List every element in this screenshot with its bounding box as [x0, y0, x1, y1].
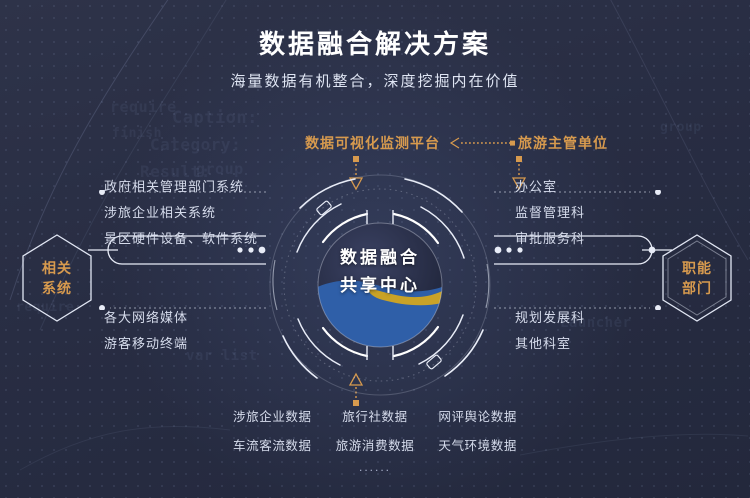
list-item[interactable]: 涉旅企业相关系统 — [104, 200, 258, 226]
list-item[interactable]: 监督管理科 — [515, 200, 585, 226]
list-item[interactable]: 各大网络媒体 — [104, 305, 188, 331]
list-item[interactable]: 游客移动终端 — [104, 331, 188, 357]
hexagon-right-line1: 职能 — [682, 258, 712, 278]
ghost-text: var list — [186, 348, 257, 364]
bottom-ellipsis: ...... — [0, 460, 750, 474]
list-item[interactable]: 旅行社数据 — [328, 405, 423, 429]
hexagon-right-line2: 部门 — [682, 278, 712, 298]
ghost-text: finish — [112, 126, 162, 141]
data-fusion-hub[interactable]: 数据融合 共享中心 — [255, 160, 505, 410]
dotted-left-arrow-icon — [448, 136, 518, 150]
hexagon-left-line1: 相关 — [42, 258, 72, 278]
list-item[interactable]: 办公室 — [515, 174, 585, 200]
label-visualization-platform[interactable]: 数据可视化监测平台 — [305, 133, 440, 153]
list-item[interactable]: 政府相关管理部门系统 — [104, 174, 258, 200]
ghost-text: group — [660, 120, 702, 135]
hexagon-related-systems[interactable]: 相关 系统 — [18, 232, 96, 324]
right-top-list: 办公室 监督管理科 审批服务科 — [515, 174, 585, 252]
left-bottom-list: 各大网络媒体 游客移动终端 — [104, 305, 188, 357]
left-top-list: 政府相关管理部门系统 涉旅企业相关系统 景区硬件设备、软件系统 — [104, 174, 258, 252]
hub-line2: 共享中心 — [255, 272, 505, 300]
list-item[interactable]: 其他科室 — [515, 331, 585, 357]
list-item[interactable]: 网评舆论数据 — [430, 405, 525, 429]
ghost-text: Category: — [150, 135, 241, 154]
hub-line1: 数据融合 — [255, 244, 505, 272]
infographic-canvas: require Caption: Category: Result: finis… — [0, 0, 750, 498]
list-item[interactable]: 规划发展科 — [515, 305, 585, 331]
hexagon-left-line2: 系统 — [42, 278, 72, 298]
list-item[interactable]: 车流客流数据 — [225, 434, 320, 458]
right-bottom-list: 规划发展科 其他科室 — [515, 305, 585, 357]
page-title: 数据融合解决方案 — [0, 24, 750, 61]
ghost-text: Caption: — [172, 108, 258, 128]
hexagon-left-label: 相关 系统 — [18, 232, 96, 324]
ghost-text: require — [110, 98, 177, 116]
page-subtitle: 海量数据有机整合，深度挖掘内在价值 — [0, 70, 750, 91]
list-item[interactable]: 审批服务科 — [515, 226, 585, 252]
list-item[interactable]: 涉旅企业数据 — [225, 405, 320, 429]
hub-label: 数据融合 共享中心 — [255, 244, 505, 300]
list-item[interactable]: 景区硬件设备、软件系统 — [104, 226, 258, 252]
list-item[interactable]: 天气环境数据 — [430, 434, 525, 458]
bottom-data-grid: 涉旅企业数据 旅行社数据 网评舆论数据 车流客流数据 旅游消费数据 天气环境数据 — [225, 405, 525, 458]
list-item[interactable]: 旅游消费数据 — [328, 434, 423, 458]
label-tourism-authority[interactable]: 旅游主管单位 — [518, 133, 608, 153]
